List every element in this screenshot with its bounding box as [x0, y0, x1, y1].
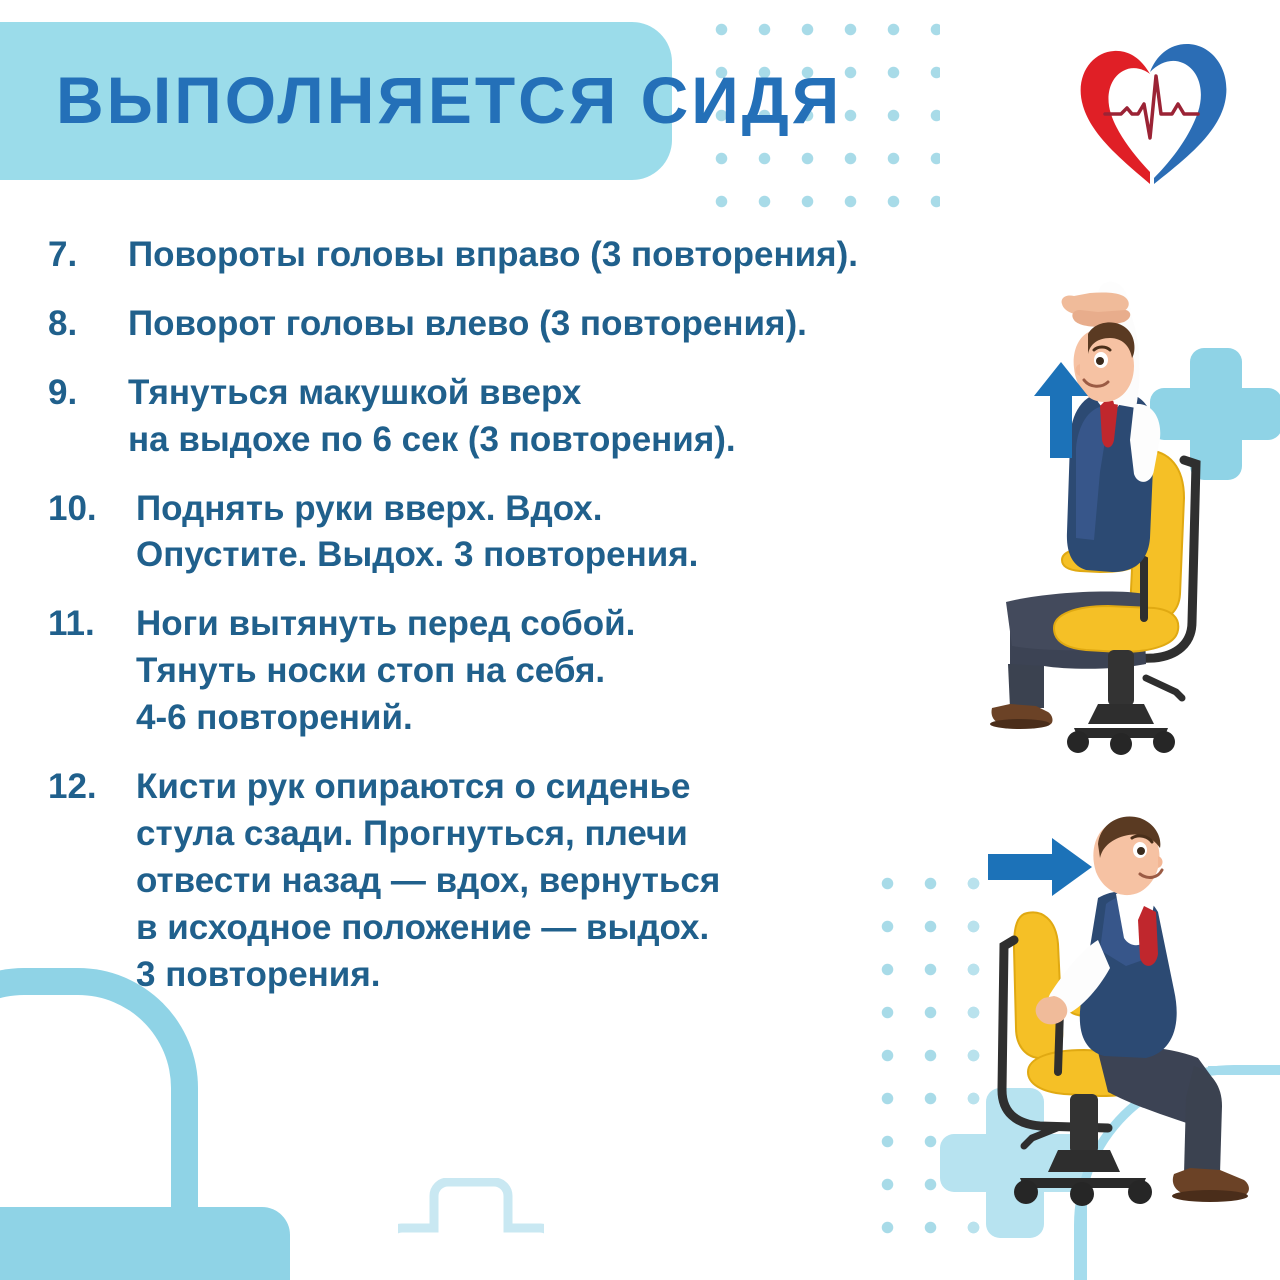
list-item-number: 7.: [48, 232, 128, 279]
list-item-line: Повороты головы вправо (3 повторения).: [128, 232, 948, 279]
list-item: 8. Поворот головы влево (3 повторения).: [48, 301, 948, 348]
man-seated-arms-overhead: [948, 272, 1248, 772]
list-item: 12. Кисти рук опираются о сиденье стула …: [48, 764, 948, 998]
list-item-line: Поднять руки вверх. Вдох.: [136, 486, 948, 533]
list-item-number: 8.: [48, 301, 128, 348]
list-item-line: Тянуться макушкой вверх: [128, 370, 948, 417]
list-item-number: 12.: [48, 764, 136, 811]
poster-page: ВЫПОЛНЯЕТСЯ СИДЯ: [0, 0, 1280, 1280]
page-title: ВЫПОЛНЯЕТСЯ СИДЯ: [56, 62, 842, 138]
list-item-line: Кисти рук опираются о сиденье: [136, 764, 948, 811]
list-item-number: 10.: [48, 486, 136, 533]
list-item-text: Тянуться макушкой вверх на выдохе по 6 с…: [128, 370, 948, 464]
list-item-line: Ноги вытянуть перед собой.: [136, 601, 948, 648]
list-item-line: 4-6 повторений.: [136, 695, 948, 742]
list-item-line: Опустите. Выдох. 3 повторения.: [136, 532, 948, 579]
list-item-line: стула сзади. Прогнуться, плечи: [136, 811, 948, 858]
list-item-text: Поднять руки вверх. Вдох. Опустите. Выдо…: [136, 486, 948, 580]
list-item-text: Повороты головы вправо (3 повторения).: [128, 232, 948, 279]
list-item: 7. Повороты головы вправо (3 повторения)…: [48, 232, 948, 279]
exercise-list: 7. Повороты головы вправо (3 повторения)…: [48, 232, 948, 1020]
bottom-left-band: [0, 1207, 290, 1280]
arrow-up-icon: [1034, 362, 1088, 458]
heart-ecg-logo: [1072, 38, 1232, 188]
list-item-line: Поворот головы влево (3 повторения).: [128, 301, 948, 348]
medical-cross-outline-bottom-left: [398, 1178, 544, 1280]
list-item: 9. Тянуться макушкой вверх на выдохе по …: [48, 370, 948, 464]
list-item-line: отвести назад — вдох, вернуться: [136, 858, 948, 905]
list-item-line: в исходное положение — выдох.: [136, 905, 948, 952]
list-item-text: Кисти рук опираются о сиденье стула сзад…: [136, 764, 948, 998]
list-item-line: 3 повторения.: [136, 952, 948, 999]
list-item-line: на выдохе по 6 сек (3 повторения).: [128, 417, 948, 464]
list-item: 10. Поднять руки вверх. Вдох. Опустите. …: [48, 486, 948, 580]
list-item-text: Поворот головы влево (3 повторения).: [128, 301, 948, 348]
list-item-number: 11.: [48, 601, 136, 648]
list-item: 11. Ноги вытянуть перед собой. Тянуть но…: [48, 601, 948, 742]
list-item-number: 9.: [48, 370, 128, 417]
arrow-right-icon: [988, 838, 1092, 896]
list-item-text: Ноги вытянуть перед собой. Тянуть носки …: [136, 601, 948, 742]
list-item-line: Тянуть носки стоп на себя.: [136, 648, 948, 695]
